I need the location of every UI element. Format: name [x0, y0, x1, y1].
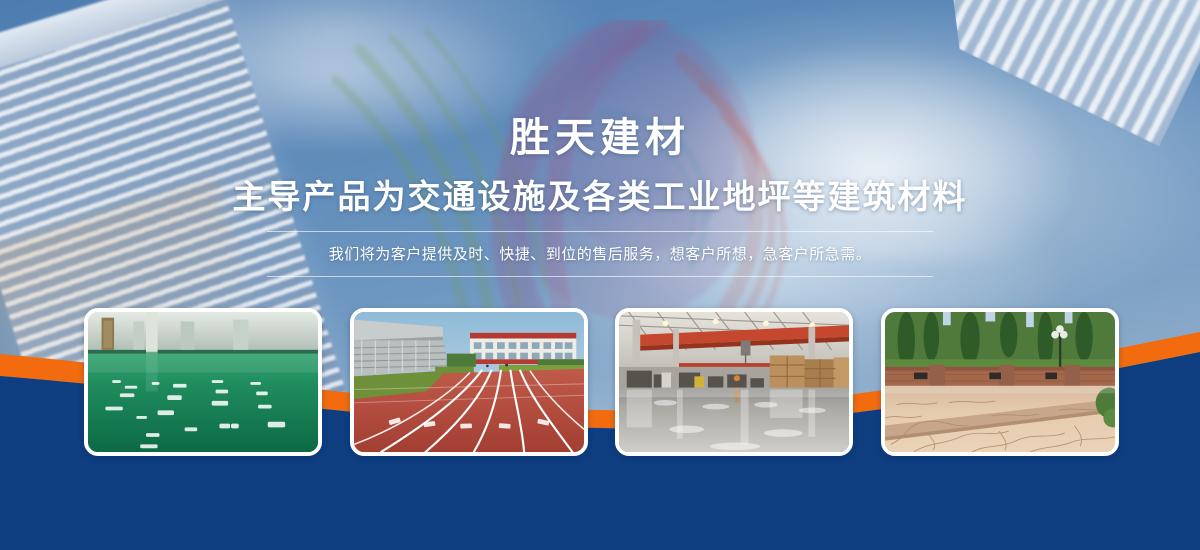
brand-title: 胜天建材	[0, 118, 1200, 158]
divider-bottom	[267, 276, 933, 277]
tagline-text: 我们将为客户提供及时、快捷、到位的售后服务，想客户所想，急客户所急需。	[267, 232, 933, 276]
thumbnail-stamped-concrete-plaza[interactable]	[881, 308, 1119, 456]
thumbnail-polished-concrete-warehouse[interactable]	[615, 308, 853, 456]
headline-text: 主导产品为交通设施及各类工业地坪等建筑材料	[0, 180, 1200, 213]
tagline-rules: 我们将为客户提供及时、快捷、到位的售后服务，想客户所想，急客户所急需。	[267, 231, 933, 277]
headline-block: 胜天建材 主导产品为交通设施及各类工业地坪等建筑材料 我们将为客户提供及时、快捷…	[0, 0, 1200, 277]
thumbnail-red-running-track[interactable]	[350, 308, 588, 456]
hero-banner: 胜天建材 主导产品为交通设施及各类工业地坪等建筑材料 我们将为客户提供及时、快捷…	[0, 0, 1200, 550]
thumbnail-strip	[84, 308, 1119, 456]
thumbnail-green-epoxy-floor[interactable]	[84, 308, 322, 456]
